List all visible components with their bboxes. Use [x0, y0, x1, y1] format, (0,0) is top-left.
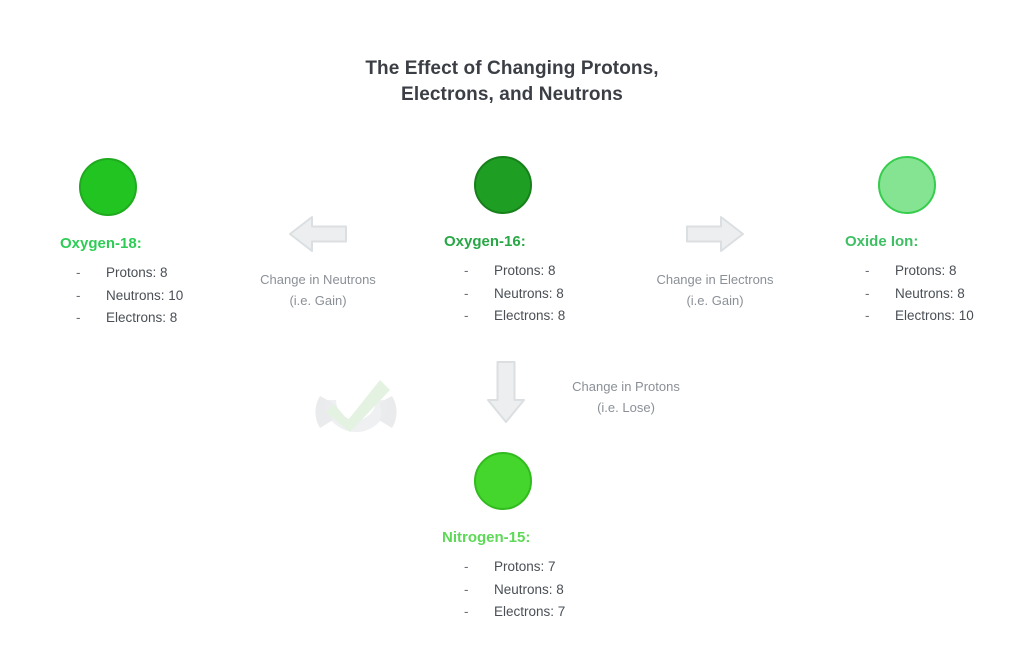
list-item: - Neutrons: 8: [865, 283, 1024, 306]
node-nitrogen-15: Nitrogen-15: - Protons: 7 - Neutrons: 8 …: [438, 452, 638, 624]
oxygen-18-circle-wrap: [60, 158, 260, 216]
atom-circle-oxygen-16: [474, 156, 532, 214]
node-oxygen-18: Oxygen-18: - Protons: 8 - Neutrons: 10 -…: [60, 158, 260, 330]
page-title-line-1: The Effect of Changing Protons,: [0, 56, 1024, 82]
list-item: - Neutrons: 10: [76, 285, 260, 308]
property-electrons: Electrons: 8: [494, 305, 565, 328]
arrow-left-icon: [286, 213, 350, 255]
bullet-dash: -: [464, 556, 494, 579]
arrow-caption-line-2: (i.e. Lose): [546, 397, 706, 418]
page-title-line-2: Electrons, and Neutrons: [0, 82, 1024, 108]
property-protons: Protons: 8: [494, 260, 556, 283]
property-neutrons: Neutrons: 8: [494, 579, 564, 602]
list-item: - Protons: 8: [464, 260, 644, 283]
list-item: - Electrons: 8: [76, 307, 260, 330]
arrow-caption-electrons: Change in Electrons (i.e. Gain): [640, 269, 790, 311]
list-item: - Electrons: 7: [464, 601, 638, 624]
list-item: - Electrons: 8: [464, 305, 644, 328]
property-list-oxide-ion: - Protons: 8 - Neutrons: 8 - Electrons: …: [865, 260, 1024, 328]
arrow-down-icon: [484, 358, 528, 426]
arrow-caption-line-1: Change in Neutrons: [243, 269, 393, 290]
property-list-nitrogen-15: - Protons: 7 - Neutrons: 8 - Electrons: …: [464, 556, 638, 624]
node-oxide-ion: Oxide Ion: - Protons: 8 - Neutrons: 8 - …: [845, 156, 1024, 328]
property-protons: Protons: 8: [895, 260, 957, 283]
list-item: - Neutrons: 8: [464, 579, 638, 602]
property-neutrons: Neutrons: 8: [494, 283, 564, 306]
property-neutrons: Neutrons: 8: [895, 283, 965, 306]
property-neutrons: Neutrons: 10: [106, 285, 183, 308]
bullet-dash: -: [76, 262, 106, 285]
property-protons: Protons: 8: [106, 262, 168, 285]
bullet-dash: -: [464, 601, 494, 624]
arrow-caption-protons: Change in Protons (i.e. Lose): [546, 376, 706, 418]
bullet-dash: -: [76, 285, 106, 308]
arrow-group-change-in-protons: [484, 358, 528, 426]
property-list-oxygen-16: - Protons: 8 - Neutrons: 8 - Electrons: …: [464, 260, 644, 328]
arrow-caption-neutrons: Change in Neutrons (i.e. Gain): [243, 269, 393, 311]
property-electrons: Electrons: 7: [494, 601, 565, 624]
arrow-caption-line-2: (i.e. Gain): [243, 290, 393, 311]
node-oxygen-16: Oxygen-16: - Protons: 8 - Neutrons: 8 - …: [444, 156, 644, 328]
oxide-ion-circle-wrap: [845, 156, 1024, 214]
diagram-canvas: The Effect of Changing Protons, Electron…: [0, 0, 1024, 647]
list-item: - Neutrons: 8: [464, 283, 644, 306]
oxygen-16-circle-wrap: [444, 156, 644, 214]
arrow-caption-line-2: (i.e. Gain): [640, 290, 790, 311]
list-item: - Protons: 7: [464, 556, 638, 579]
page-title: The Effect of Changing Protons, Electron…: [0, 56, 1024, 108]
arrow-right-icon: [683, 213, 747, 255]
bullet-dash: -: [464, 260, 494, 283]
arrow-caption-line-1: Change in Protons: [546, 376, 706, 397]
atom-circle-nitrogen-15: [474, 452, 532, 510]
nitrogen-15-circle-wrap: [438, 452, 638, 510]
atom-circle-oxygen-18: [79, 158, 137, 216]
node-label-nitrogen-15: Nitrogen-15:: [442, 529, 638, 546]
list-item: - Protons: 8: [76, 262, 260, 285]
list-item: - Electrons: 10: [865, 305, 1024, 328]
bullet-dash: -: [464, 579, 494, 602]
bullet-dash: -: [464, 283, 494, 306]
node-label-oxide-ion: Oxide Ion:: [845, 233, 1024, 250]
arrow-group-change-in-electrons: Change in Electrons (i.e. Gain): [640, 213, 790, 311]
bullet-dash: -: [865, 305, 895, 328]
bullet-dash: -: [865, 260, 895, 283]
node-label-oxygen-18: Oxygen-18:: [60, 235, 260, 252]
watermark-check-arc-icon: [306, 370, 406, 436]
arrow-caption-line-1: Change in Electrons: [640, 269, 790, 290]
arrow-group-change-in-neutrons: Change in Neutrons (i.e. Gain): [243, 213, 393, 311]
bullet-dash: -: [865, 283, 895, 306]
property-electrons: Electrons: 8: [106, 307, 177, 330]
property-electrons: Electrons: 10: [895, 305, 974, 328]
property-protons: Protons: 7: [494, 556, 556, 579]
watermark-logo: [306, 370, 406, 436]
bullet-dash: -: [464, 305, 494, 328]
property-list-oxygen-18: - Protons: 8 - Neutrons: 10 - Electrons:…: [76, 262, 260, 330]
list-item: - Protons: 8: [865, 260, 1024, 283]
bullet-dash: -: [76, 307, 106, 330]
atom-circle-oxide-ion: [878, 156, 936, 214]
node-label-oxygen-16: Oxygen-16:: [444, 233, 644, 250]
